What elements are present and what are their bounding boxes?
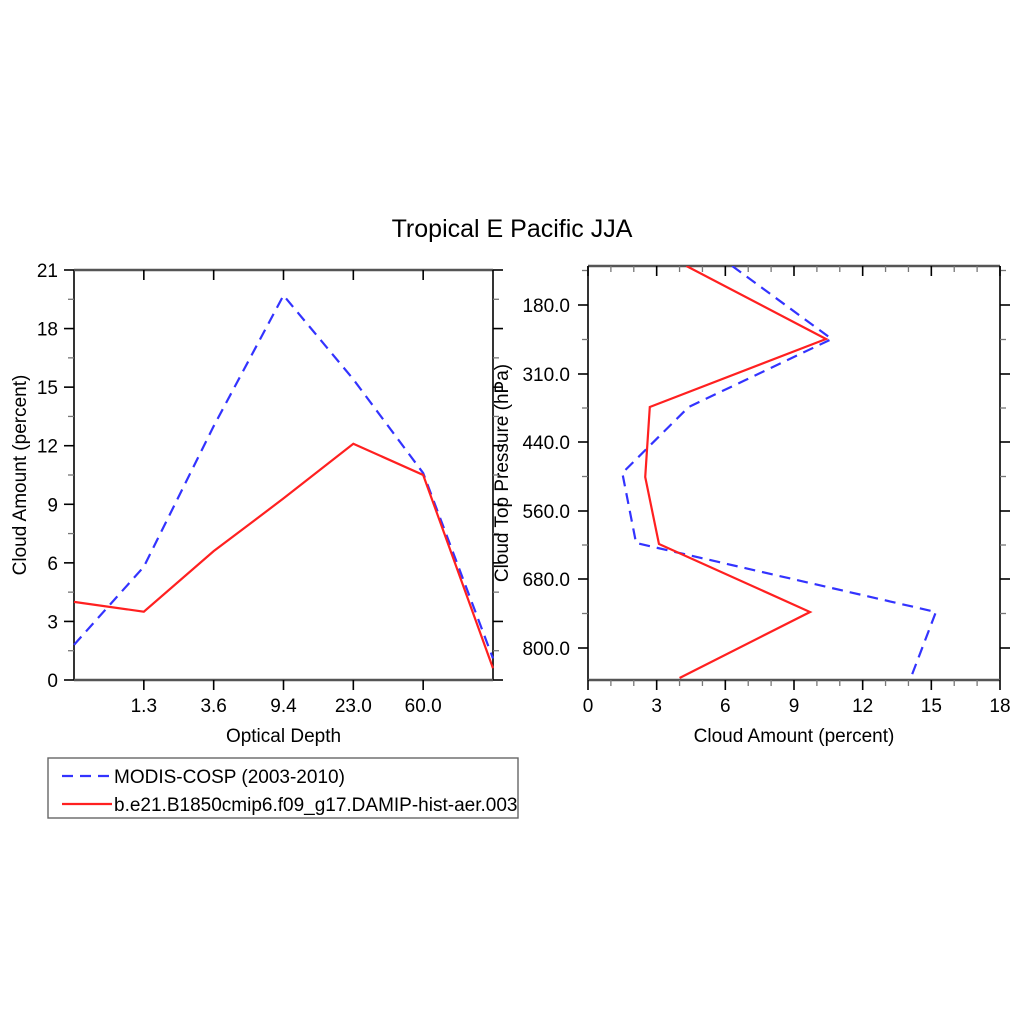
right-panel-xtick-label: 12: [852, 696, 873, 717]
right-panel-xtick-label: 0: [583, 696, 594, 717]
right-panel-xlabel: Cloud Amount (percent): [694, 726, 895, 747]
left-panel-ytick-label: 18: [37, 320, 58, 341]
left-panel-xtick-label: 23.0: [335, 696, 372, 717]
right-panel-ytick-label: 560.0: [522, 502, 570, 523]
left-panel-ytick-label: 15: [37, 378, 58, 399]
left-panel-ytick-label: 0: [47, 671, 58, 692]
legend-label-model: b.e21.B1850cmip6.f09_g17.DAMIP-hist-aer.…: [114, 795, 517, 816]
left-panel-ytick-label: 12: [37, 437, 58, 458]
left-panel-xtick-label: 3.6: [200, 696, 226, 717]
legend-label-obs: MODIS-COSP (2003-2010): [114, 767, 345, 788]
right-panel-xtick-label: 6: [720, 696, 731, 717]
left-panel-ytick-label: 3: [47, 612, 58, 633]
right-panel-xtick-label: 3: [651, 696, 662, 717]
left-panel-xtick-label: 1.3: [131, 696, 157, 717]
left-panel-xlabel: Optical Depth: [226, 726, 341, 747]
left-panel-ytick-label: 9: [47, 495, 58, 516]
right-panel-ytick-label: 680.0: [522, 570, 570, 591]
left-panel-ytick-label: 6: [47, 554, 58, 575]
right-panel-ytick-label: 440.0: [522, 433, 570, 454]
right-panel-ytick-label: 800.0: [522, 639, 570, 660]
figure-canvas: Tropical E Pacific JJA 0369121518211.33.…: [0, 0, 1024, 1024]
right-panel-xtick-label: 18: [989, 696, 1010, 717]
left-panel-ytick-label: 21: [37, 261, 58, 282]
right-panel-ytick-label: 310.0: [522, 365, 570, 386]
left-panel-xtick-label: 9.4: [270, 696, 297, 717]
right-panel-ytick-label: 180.0: [522, 296, 570, 317]
left-panel-ylabel: Cloud Amount (percent): [10, 375, 31, 576]
right-panel-xtick-label: 15: [921, 696, 942, 717]
page-title: Tropical E Pacific JJA: [392, 215, 633, 243]
chart-figure: Tropical E Pacific JJA 0369121518211.33.…: [0, 0, 1024, 1024]
left-panel-xtick-label: 60.0: [405, 696, 442, 717]
right-panel-ylabel: Cloud Top Pressure (hPa): [492, 364, 513, 582]
right-panel-xtick-label: 9: [789, 696, 800, 717]
